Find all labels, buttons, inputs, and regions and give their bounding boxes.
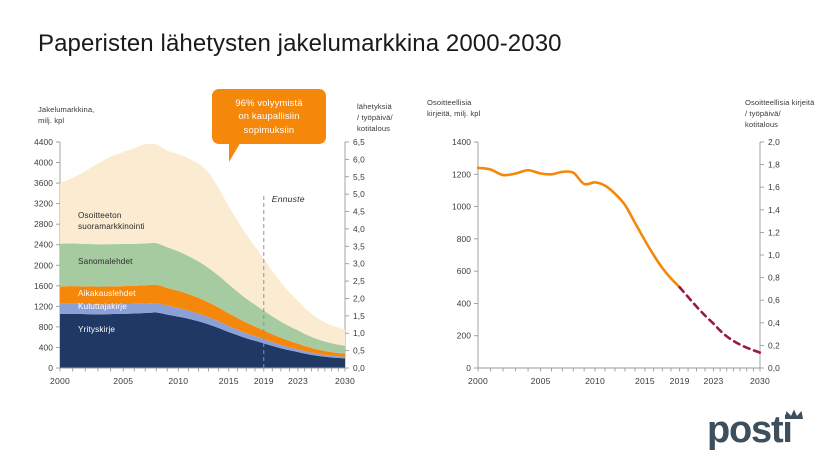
jakelumarkkina-area-chart: 0400800120016002000240028003200360040004… [0, 130, 420, 390]
series-label-yrityskirje: Yrityskirje [78, 325, 115, 334]
y-tick-label: 1000 [452, 202, 471, 212]
y2-tick-label: 1,4 [768, 205, 780, 215]
x-tick-label: 2005 [531, 376, 551, 386]
y2-tick-label: 4,0 [353, 224, 365, 234]
x-tick-label: 2000 [50, 376, 70, 386]
slide-root: Paperisten lähetysten jakelumarkkina 200… [0, 0, 833, 468]
y-tick-label: 400 [457, 298, 472, 308]
y2-tick-label: 1,0 [768, 250, 780, 260]
callout-bubble: 96% volyymistä on kaupallisiin sopimuksi… [212, 89, 326, 144]
x-tick-label: 2023 [704, 376, 724, 386]
y2-tick-label: 0,0 [353, 363, 365, 373]
y2-tick-label: 6,0 [353, 154, 365, 164]
y-tick-label: 1400 [452, 137, 471, 147]
x-tick-label: 2000 [468, 376, 488, 386]
y2-tick-label: 0,5 [353, 346, 365, 356]
y-tick-label: 600 [457, 266, 472, 276]
forecast-label: Ennuste [272, 194, 305, 204]
y-tick-label: 200 [457, 331, 472, 341]
y2-tick-label: 0,6 [768, 295, 780, 305]
y-tick-label: 800 [457, 234, 472, 244]
y2-tick-label: 2,0 [768, 137, 780, 147]
y-tick-label: 2400 [34, 240, 53, 250]
x-tick-label: 2015 [635, 376, 655, 386]
posti-logo-text: posti [707, 411, 792, 449]
y2-tick-label: 0,0 [768, 363, 780, 373]
osoitteelliset-kirjeet-line-chart: 02004006008001000120014000,00,20,40,60,8… [420, 130, 833, 390]
series-label-kuluttajakirje: Kuluttajakirje [78, 302, 127, 311]
y-tick-label: 0 [466, 363, 471, 373]
y2-tick-label: 1,5 [353, 311, 365, 321]
y2-tick-label: 1,6 [768, 182, 780, 192]
x-tick-label: 2030 [335, 376, 355, 386]
left-chart-y-axis-title: Jakelumarkkina, milj. kpl [38, 105, 94, 127]
page-title: Paperisten lähetysten jakelumarkkina 200… [38, 30, 562, 58]
y2-tick-label: 2,0 [353, 293, 365, 303]
y2-tick-label: 1,0 [353, 328, 365, 338]
y2-tick-label: 5,5 [353, 172, 365, 182]
y-tick-label: 3600 [34, 178, 53, 188]
posti-crown-icon [783, 408, 805, 422]
x-tick-label: 2005 [113, 376, 133, 386]
y-tick-label: 3200 [34, 199, 53, 209]
posti-logo: posti [707, 411, 792, 449]
y2-tick-label: 4,5 [353, 207, 365, 217]
x-tick-label: 2019 [254, 376, 274, 386]
y-tick-label: 2000 [34, 260, 53, 270]
y-tick-label: 4400 [34, 137, 53, 147]
y2-tick-label: 3,5 [353, 241, 365, 251]
x-tick-label: 2015 [219, 376, 239, 386]
callout-bubble-body: 96% volyymistä on kaupallisiin sopimuksi… [212, 89, 326, 144]
y-tick-label: 0 [48, 363, 53, 373]
x-tick-label: 2010 [585, 376, 605, 386]
y-tick-label: 800 [39, 322, 54, 332]
series-label-aikakauslehdet: Aikakauslehdet [78, 289, 136, 298]
series-label-sanomalehdet: Sanomalehdet [78, 257, 133, 266]
y2-tick-label: 5,0 [353, 189, 365, 199]
right-chart-y2-axis-title: Osoitteellisia kirjeitä / työpäivä/ koti… [745, 98, 814, 130]
callout-line-1: 96% volyymistä [218, 96, 320, 109]
callout-pointer [229, 140, 255, 162]
y2-tick-label: 2,5 [353, 276, 365, 286]
x-tick-label: 2010 [168, 376, 188, 386]
y2-tick-label: 0,2 [768, 340, 780, 350]
x-tick-label: 2019 [670, 376, 690, 386]
y2-tick-label: 0,4 [768, 318, 780, 328]
right-chart-y-axis-title: Osoitteellisia kirjeitä, milj. kpl [427, 98, 480, 120]
y2-tick-label: 1,8 [768, 160, 780, 170]
y2-tick-label: 6,5 [353, 137, 365, 147]
forecast-line [680, 287, 760, 352]
y2-tick-label: 1,2 [768, 227, 780, 237]
actual-line [478, 168, 680, 287]
y-tick-label: 400 [39, 342, 54, 352]
y-tick-label: 1200 [34, 301, 53, 311]
y-tick-label: 4000 [34, 158, 53, 168]
y-tick-label: 1600 [34, 281, 53, 291]
y-tick-label: 2800 [34, 219, 53, 229]
callout-line-2: on kaupallisiin [218, 109, 320, 122]
x-tick-label: 2030 [750, 376, 770, 386]
y2-tick-label: 0,8 [768, 273, 780, 283]
y-tick-label: 1200 [452, 169, 471, 179]
y2-tick-label: 3,0 [353, 259, 365, 269]
callout-line-3: sopimuksiin [218, 123, 320, 136]
x-tick-label: 2023 [288, 376, 308, 386]
